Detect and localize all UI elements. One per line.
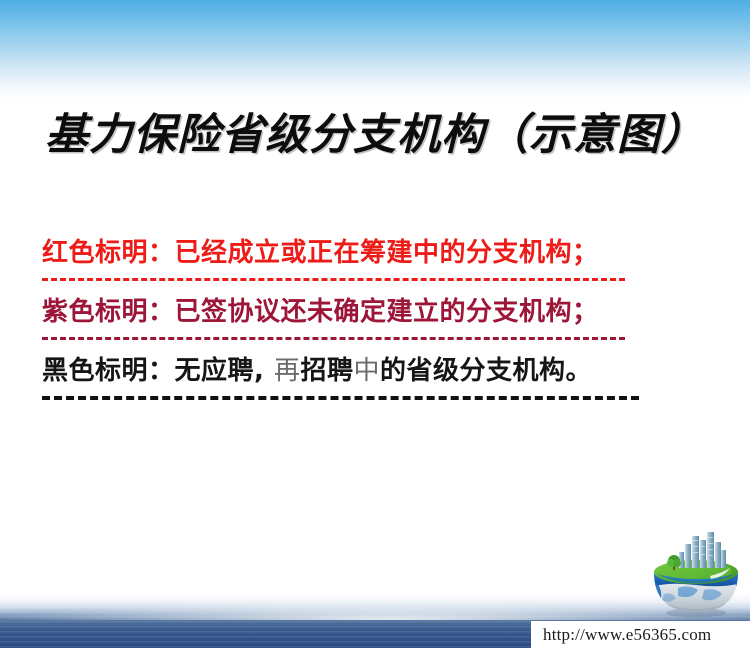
watermark-url: http://www.e56365.com bbox=[543, 625, 711, 645]
presentation-slide: 基力保险省级分支机构（示意图） 红色标明：已经成立或正在筹建中的分支机构； 紫色… bbox=[0, 0, 750, 648]
legend-label-black-part-5: 的省级分支机构。 bbox=[380, 356, 592, 386]
globe-city-icon bbox=[648, 528, 744, 620]
legend-item-black: 黑色标明：无应聘, 再招聘中的省级分支机构。 bbox=[42, 354, 708, 400]
legend-label-black-part-2: 再 bbox=[274, 356, 301, 386]
divider-red bbox=[42, 278, 625, 281]
legend-item-plum: 紫色标明：已签协议还未确定建立的分支机构； bbox=[42, 295, 708, 340]
legend-block: 红色标明：已经成立或正在筹建中的分支机构； 紫色标明：已签协议还未确定建立的分支… bbox=[42, 236, 708, 414]
legend-label-red: 红色标明：已经成立或正在筹建中的分支机构； bbox=[42, 236, 708, 270]
legend-label-black-part-1: 黑色标明：无应聘, bbox=[42, 356, 274, 386]
legend-item-red: 红色标明：已经成立或正在筹建中的分支机构； bbox=[42, 236, 708, 281]
legend-label-black: 黑色标明：无应聘, 再招聘中的省级分支机构。 bbox=[42, 354, 708, 388]
page-title: 基力保险省级分支机构（示意图） bbox=[0, 100, 750, 162]
legend-label-black-part-3: 招聘 bbox=[300, 356, 353, 386]
divider-plum bbox=[42, 337, 625, 340]
legend-label-black-part-4: 中 bbox=[353, 356, 380, 386]
divider-black bbox=[42, 396, 639, 400]
legend-label-plum: 紫色标明：已签协议还未确定建立的分支机构； bbox=[42, 295, 708, 329]
watermark-box: http://www.e56365.com bbox=[531, 621, 750, 648]
sky-gradient-background bbox=[0, 0, 750, 100]
